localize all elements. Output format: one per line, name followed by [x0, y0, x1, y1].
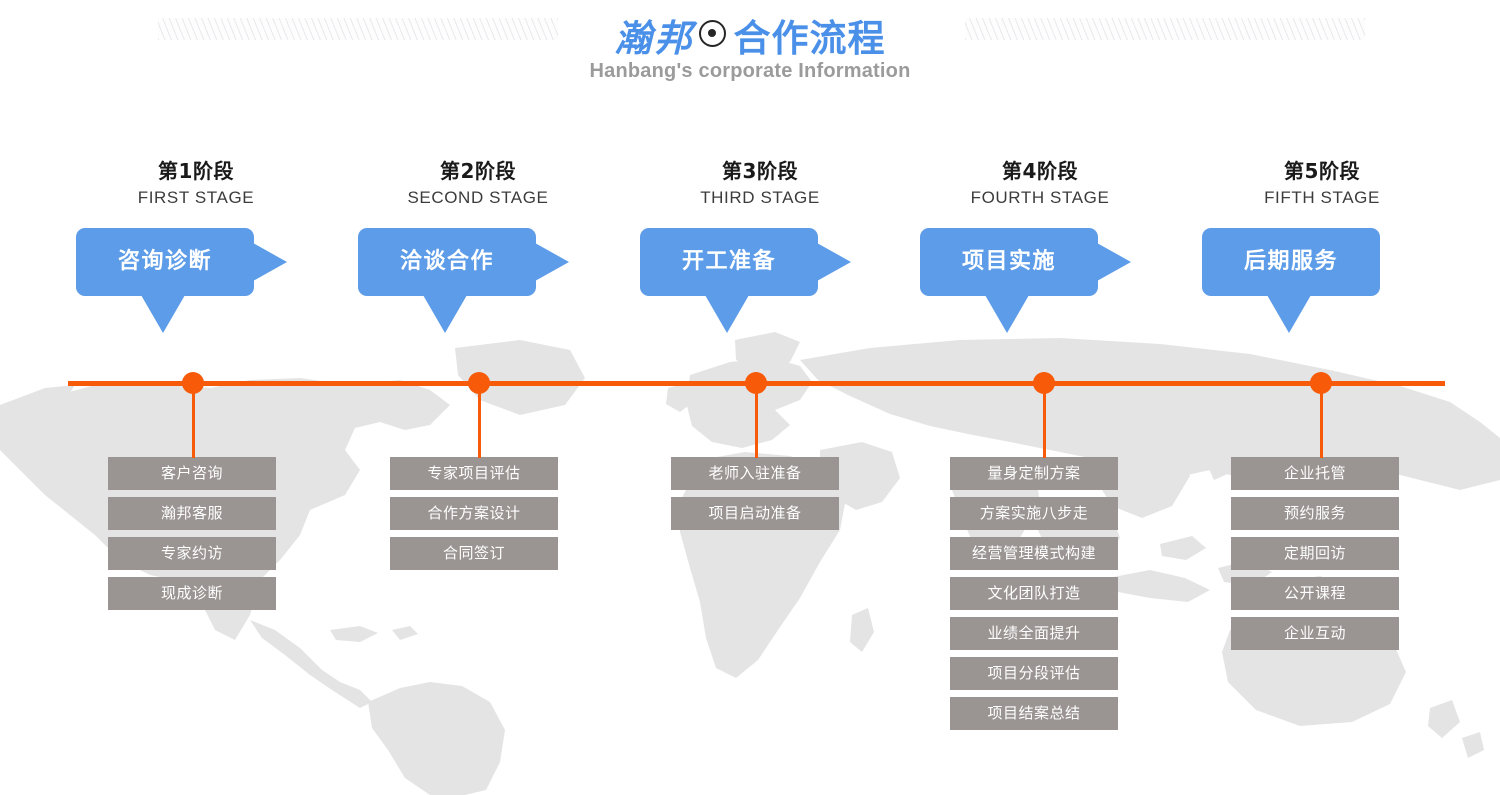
stage-bubble-wrap: 项目实施 [900, 228, 1180, 338]
list-item[interactable]: 合作方案设计 [390, 497, 558, 530]
stage-number-en: FIRST STAGE [56, 186, 336, 210]
list-item[interactable]: 方案实施八步走 [950, 497, 1118, 530]
list-item[interactable]: 老师入驻准备 [671, 457, 839, 490]
next-stage-arrow-icon [1097, 243, 1131, 281]
stage-number-en: FOURTH STAGE [900, 186, 1180, 210]
bubble-pointer-icon [423, 295, 467, 333]
stage-number-en: THIRD STAGE [620, 186, 900, 210]
stage-bubble[interactable]: 项目实施 [920, 228, 1098, 296]
timeline-drop-line [1043, 383, 1046, 458]
list-item[interactable]: 项目分段评估 [950, 657, 1118, 690]
bubble-pointer-icon [705, 295, 749, 333]
timeline-drop-line [755, 383, 758, 458]
list-item[interactable]: 企业互动 [1231, 617, 1399, 650]
stage-item-list-2: 专家项目评估合作方案设计合同签订 [390, 457, 558, 577]
stage-item-list-5: 企业托管预约服务定期回访公开课程企业互动 [1231, 457, 1399, 657]
list-item[interactable]: 专家约访 [108, 537, 276, 570]
page-header: 瀚邦合作流程 Hanbang's corporate Information [0, 0, 1500, 105]
timeline-dot-icon [468, 372, 490, 394]
stage-bubble-label: 后期服务 [1202, 228, 1380, 296]
stage-bubble-wrap: 咨询诊断 [56, 228, 336, 338]
stage-item-list-3: 老师入驻准备项目启动准备 [671, 457, 839, 537]
stage-bubble[interactable]: 洽谈合作 [358, 228, 536, 296]
timeline-dot-icon [182, 372, 204, 394]
stage-column-1: 第1阶段FIRST STAGE咨询诊断 [56, 158, 336, 338]
list-item[interactable]: 经营管理模式构建 [950, 537, 1118, 570]
brand-name: 瀚邦 [615, 8, 697, 62]
stage-bubble-wrap: 后期服务 [1182, 228, 1462, 338]
stage-column-4: 第4阶段FOURTH STAGE项目实施 [900, 158, 1180, 338]
stage-bubble[interactable]: 后期服务 [1202, 228, 1380, 296]
bubble-pointer-icon [985, 295, 1029, 333]
stage-columns: 第1阶段FIRST STAGE咨询诊断第2阶段SECOND STAGE洽谈合作第… [0, 0, 1500, 795]
target-circle-icon [699, 20, 726, 47]
stage-number-en: FIFTH STAGE [1182, 186, 1462, 210]
stage-bubble-label: 洽谈合作 [358, 228, 536, 296]
page-title: 瀚邦合作流程 [0, 8, 1500, 62]
list-item[interactable]: 预约服务 [1231, 497, 1399, 530]
timeline-dot-icon [745, 372, 767, 394]
stage-bubble-wrap: 开工准备 [620, 228, 900, 338]
timeline-drop-line [192, 383, 195, 458]
list-item[interactable]: 客户咨询 [108, 457, 276, 490]
list-item[interactable]: 项目启动准备 [671, 497, 839, 530]
stage-number-en: SECOND STAGE [338, 186, 618, 210]
list-item[interactable]: 瀚邦客服 [108, 497, 276, 530]
timeline-dot-icon [1310, 372, 1332, 394]
stage-number-cn: 第1阶段 [56, 158, 336, 184]
list-item[interactable]: 定期回访 [1231, 537, 1399, 570]
stage-bubble-label: 咨询诊断 [76, 228, 254, 296]
timeline-dot-icon [1033, 372, 1055, 394]
stage-column-2: 第2阶段SECOND STAGE洽谈合作 [338, 158, 618, 338]
bubble-pointer-icon [1267, 295, 1311, 333]
stage-number-cn: 第4阶段 [900, 158, 1180, 184]
stage-number-cn: 第3阶段 [620, 158, 900, 184]
stage-bubble[interactable]: 咨询诊断 [76, 228, 254, 296]
stage-item-list-4: 量身定制方案方案实施八步走经营管理模式构建文化团队打造业绩全面提升项目分段评估项… [950, 457, 1118, 737]
page-subtitle: Hanbang's corporate Information [0, 60, 1500, 83]
stage-column-3: 第3阶段THIRD STAGE开工准备 [620, 158, 900, 338]
title-text: 合作流程 [734, 8, 886, 62]
bubble-pointer-icon [141, 295, 185, 333]
stage-bubble-label: 项目实施 [920, 228, 1098, 296]
list-item[interactable]: 专家项目评估 [390, 457, 558, 490]
stage-bubble-label: 开工准备 [640, 228, 818, 296]
list-item[interactable]: 项目结案总结 [950, 697, 1118, 730]
next-stage-arrow-icon [817, 243, 851, 281]
stage-column-5: 第5阶段FIFTH STAGE后期服务 [1182, 158, 1462, 338]
list-item[interactable]: 量身定制方案 [950, 457, 1118, 490]
list-item[interactable]: 合同签订 [390, 537, 558, 570]
list-item[interactable]: 现成诊断 [108, 577, 276, 610]
list-item[interactable]: 公开课程 [1231, 577, 1399, 610]
stage-number-cn: 第5阶段 [1182, 158, 1462, 184]
next-stage-arrow-icon [253, 243, 287, 281]
next-stage-arrow-icon [535, 243, 569, 281]
list-item[interactable]: 企业托管 [1231, 457, 1399, 490]
stage-bubble-wrap: 洽谈合作 [338, 228, 618, 338]
stage-number-cn: 第2阶段 [338, 158, 618, 184]
list-item[interactable]: 业绩全面提升 [950, 617, 1118, 650]
timeline-drop-line [1320, 383, 1323, 458]
timeline-drop-line [478, 383, 481, 458]
stage-item-list-1: 客户咨询瀚邦客服专家约访现成诊断 [108, 457, 276, 617]
stage-bubble[interactable]: 开工准备 [640, 228, 818, 296]
list-item[interactable]: 文化团队打造 [950, 577, 1118, 610]
